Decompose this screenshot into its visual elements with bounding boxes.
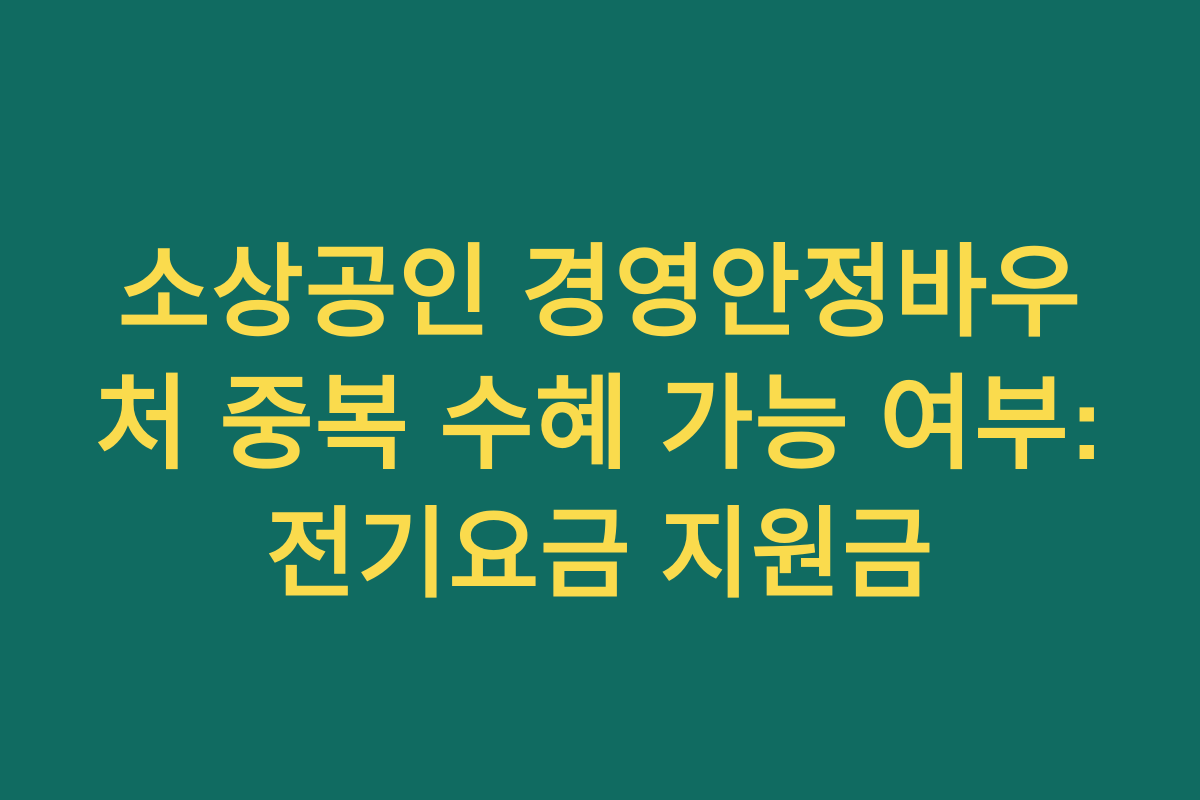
- title-line-3: 전기요금 지원금: [266, 491, 934, 618]
- title-card: 소상공인 경영안정바우 처 중복 수혜 가능 여부: 전기요금 지원금: [0, 0, 1200, 800]
- page-title: 소상공인 경영안정바우 처 중복 수혜 가능 여부: 전기요금 지원금: [0, 182, 1200, 619]
- title-line-2: 처 중복 수혜 가능 여부:: [95, 358, 1105, 491]
- title-line-1: 소상공인 경영안정바우: [118, 228, 1082, 358]
